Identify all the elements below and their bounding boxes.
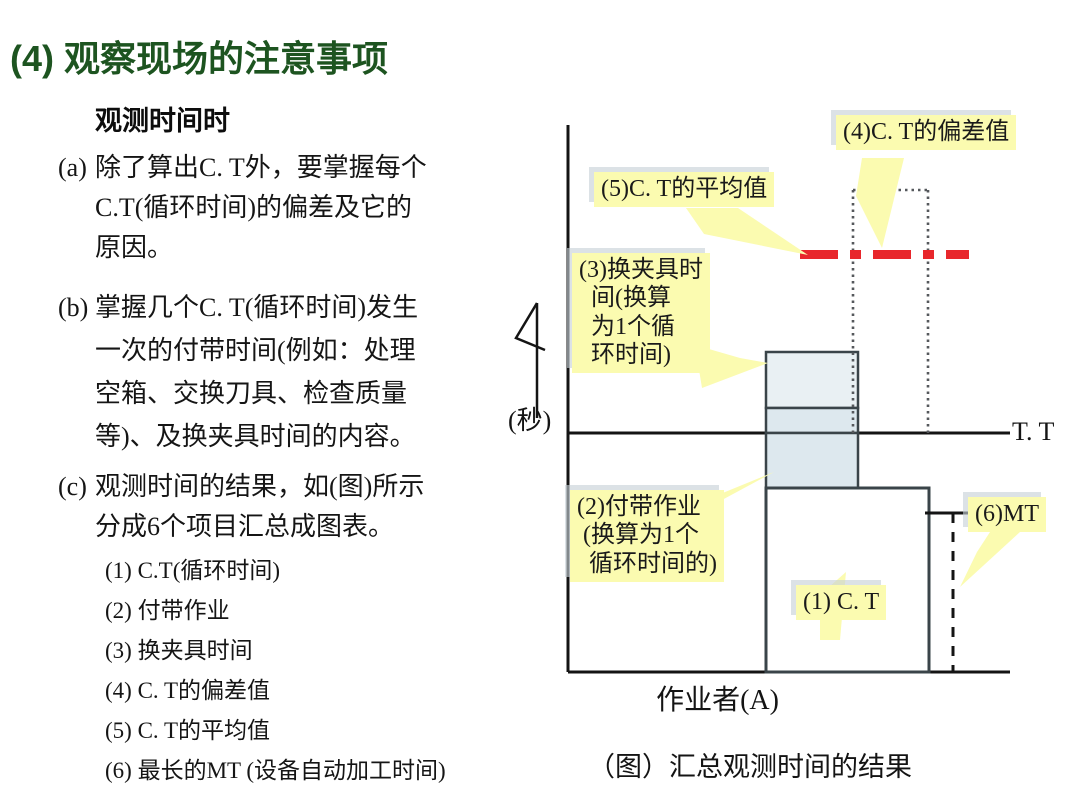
list-item: (1) C.T(循环时间)	[105, 551, 280, 585]
tt-line-label: T. T	[1012, 417, 1054, 447]
bar-segment-middle	[766, 408, 858, 433]
paragraph-c-line-1: 观测时间的结果，如(图)所示	[95, 467, 424, 506]
callout-ct-deviation[interactable]: (4)C. T的偏差值	[836, 115, 1016, 150]
figure-caption: （图）汇总观测时间的结果	[490, 745, 1010, 784]
page-title: (4) 观察现场的注意事项	[10, 30, 388, 82]
list-item: (6) 最长的MT (设备自动加工时间)	[105, 751, 446, 785]
paragraph-b-line-2: 一次的付带时间(例如：处理	[95, 331, 416, 370]
ct-average-dashdot-line	[800, 250, 969, 259]
list-item: (3) 换夹具时间	[105, 631, 253, 665]
paragraph-a-line-2: C.T(循环时间)的偏差及它的	[95, 188, 412, 227]
bar-segment-changeover-time	[766, 352, 858, 408]
paragraph-marker-b: (b)	[58, 288, 88, 327]
paragraph-c-line-2: 分成6个项目汇总成图表。	[95, 507, 394, 546]
paragraph-b-line-4: 等)、及换夹具时间的内容。	[95, 417, 416, 456]
list-item: (2) 付带作业	[105, 591, 230, 625]
mt-marker	[925, 513, 968, 672]
y-axis-unit-label: (秒)	[508, 400, 551, 437]
callout-incidental-work[interactable]: (2)付带作业 (换算为1个 循环时间的)	[570, 490, 724, 582]
bar-segment-incidental-work	[766, 433, 858, 488]
bar-cycle-time	[766, 488, 929, 672]
paragraph-b-line-1: 掌握几个C. T(循环时间)发生	[95, 288, 418, 327]
list-item: (5) C. T的平均值	[105, 711, 270, 745]
callout-mt[interactable]: (6)MT	[968, 497, 1046, 532]
paragraph-a-line-3: 原因。	[95, 228, 173, 267]
list-item: (4) C. T的偏差值	[105, 671, 270, 705]
paragraph-a-line-1: 除了算出C. T外，要掌握每个	[95, 148, 427, 187]
callout-ct-average[interactable]: (5)C. T的平均值	[594, 172, 774, 207]
observation-time-chart: (秒) T. T (5)C. T的平均值 (4)C. T的偏差值 (3)换夹具时…	[490, 100, 1080, 810]
callout-changeover-time[interactable]: (3)换夹具时 间(换算 为1个循 环时间)	[572, 253, 710, 373]
x-axis-label: 作业者(A)	[490, 678, 945, 718]
paragraph-b-line-3: 空箱、交换刀具、检查质量	[95, 374, 407, 413]
paragraph-marker-c: (c)	[58, 467, 87, 506]
callout-cycle-time[interactable]: (1) C. T	[796, 585, 886, 620]
deviation-range-box	[853, 190, 928, 433]
section-subtitle: 观测时间时	[95, 99, 230, 138]
paragraph-marker-a: (a)	[58, 148, 87, 187]
